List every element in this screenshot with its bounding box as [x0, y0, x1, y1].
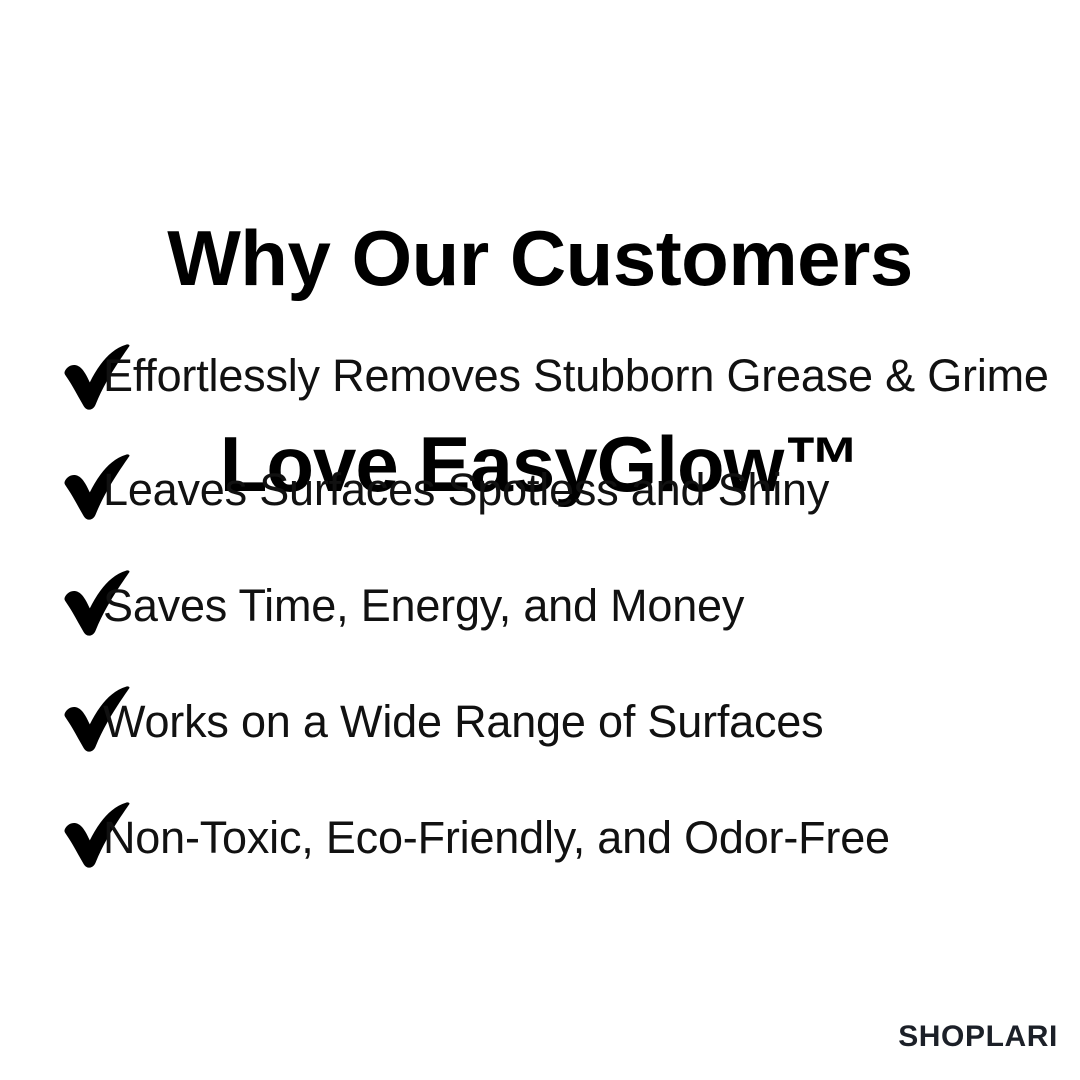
list-item-label: Non-Toxic, Eco-Friendly, and Odor-Free — [97, 806, 1080, 869]
check-mark-cell — [0, 344, 97, 410]
benefit-list: Effortlessly Removes Stubborn Grease & G… — [0, 344, 1080, 870]
list-item-label: Leaves Surfaces Spotless and Shiny — [97, 458, 1080, 521]
page-title-line-1: Why Our Customers — [0, 207, 1080, 310]
brand-logo-text: SHOPLARI — [898, 1022, 1058, 1052]
list-item-label: Effortlessly Removes Stubborn Grease & G… — [97, 344, 1080, 407]
list-item: Non-Toxic, Eco-Friendly, and Odor-Free — [0, 806, 1080, 870]
list-item: Works on a Wide Range of Surfaces — [0, 690, 1080, 754]
check-mark-cell — [0, 802, 97, 868]
check-mark-cell — [0, 570, 97, 636]
list-item: Saves Time, Energy, and Money — [0, 574, 1080, 638]
promo-card: Why Our Customers Love EasyGlow™ Effortl… — [0, 0, 1080, 1080]
check-mark-cell — [0, 686, 97, 752]
list-item-label: Works on a Wide Range of Surfaces — [97, 690, 1080, 753]
list-item: Effortlessly Removes Stubborn Grease & G… — [0, 344, 1080, 410]
list-item-label: Saves Time, Energy, and Money — [97, 574, 1080, 637]
list-item: Leaves Surfaces Spotless and Shiny — [0, 458, 1080, 522]
check-mark-cell — [0, 454, 97, 520]
